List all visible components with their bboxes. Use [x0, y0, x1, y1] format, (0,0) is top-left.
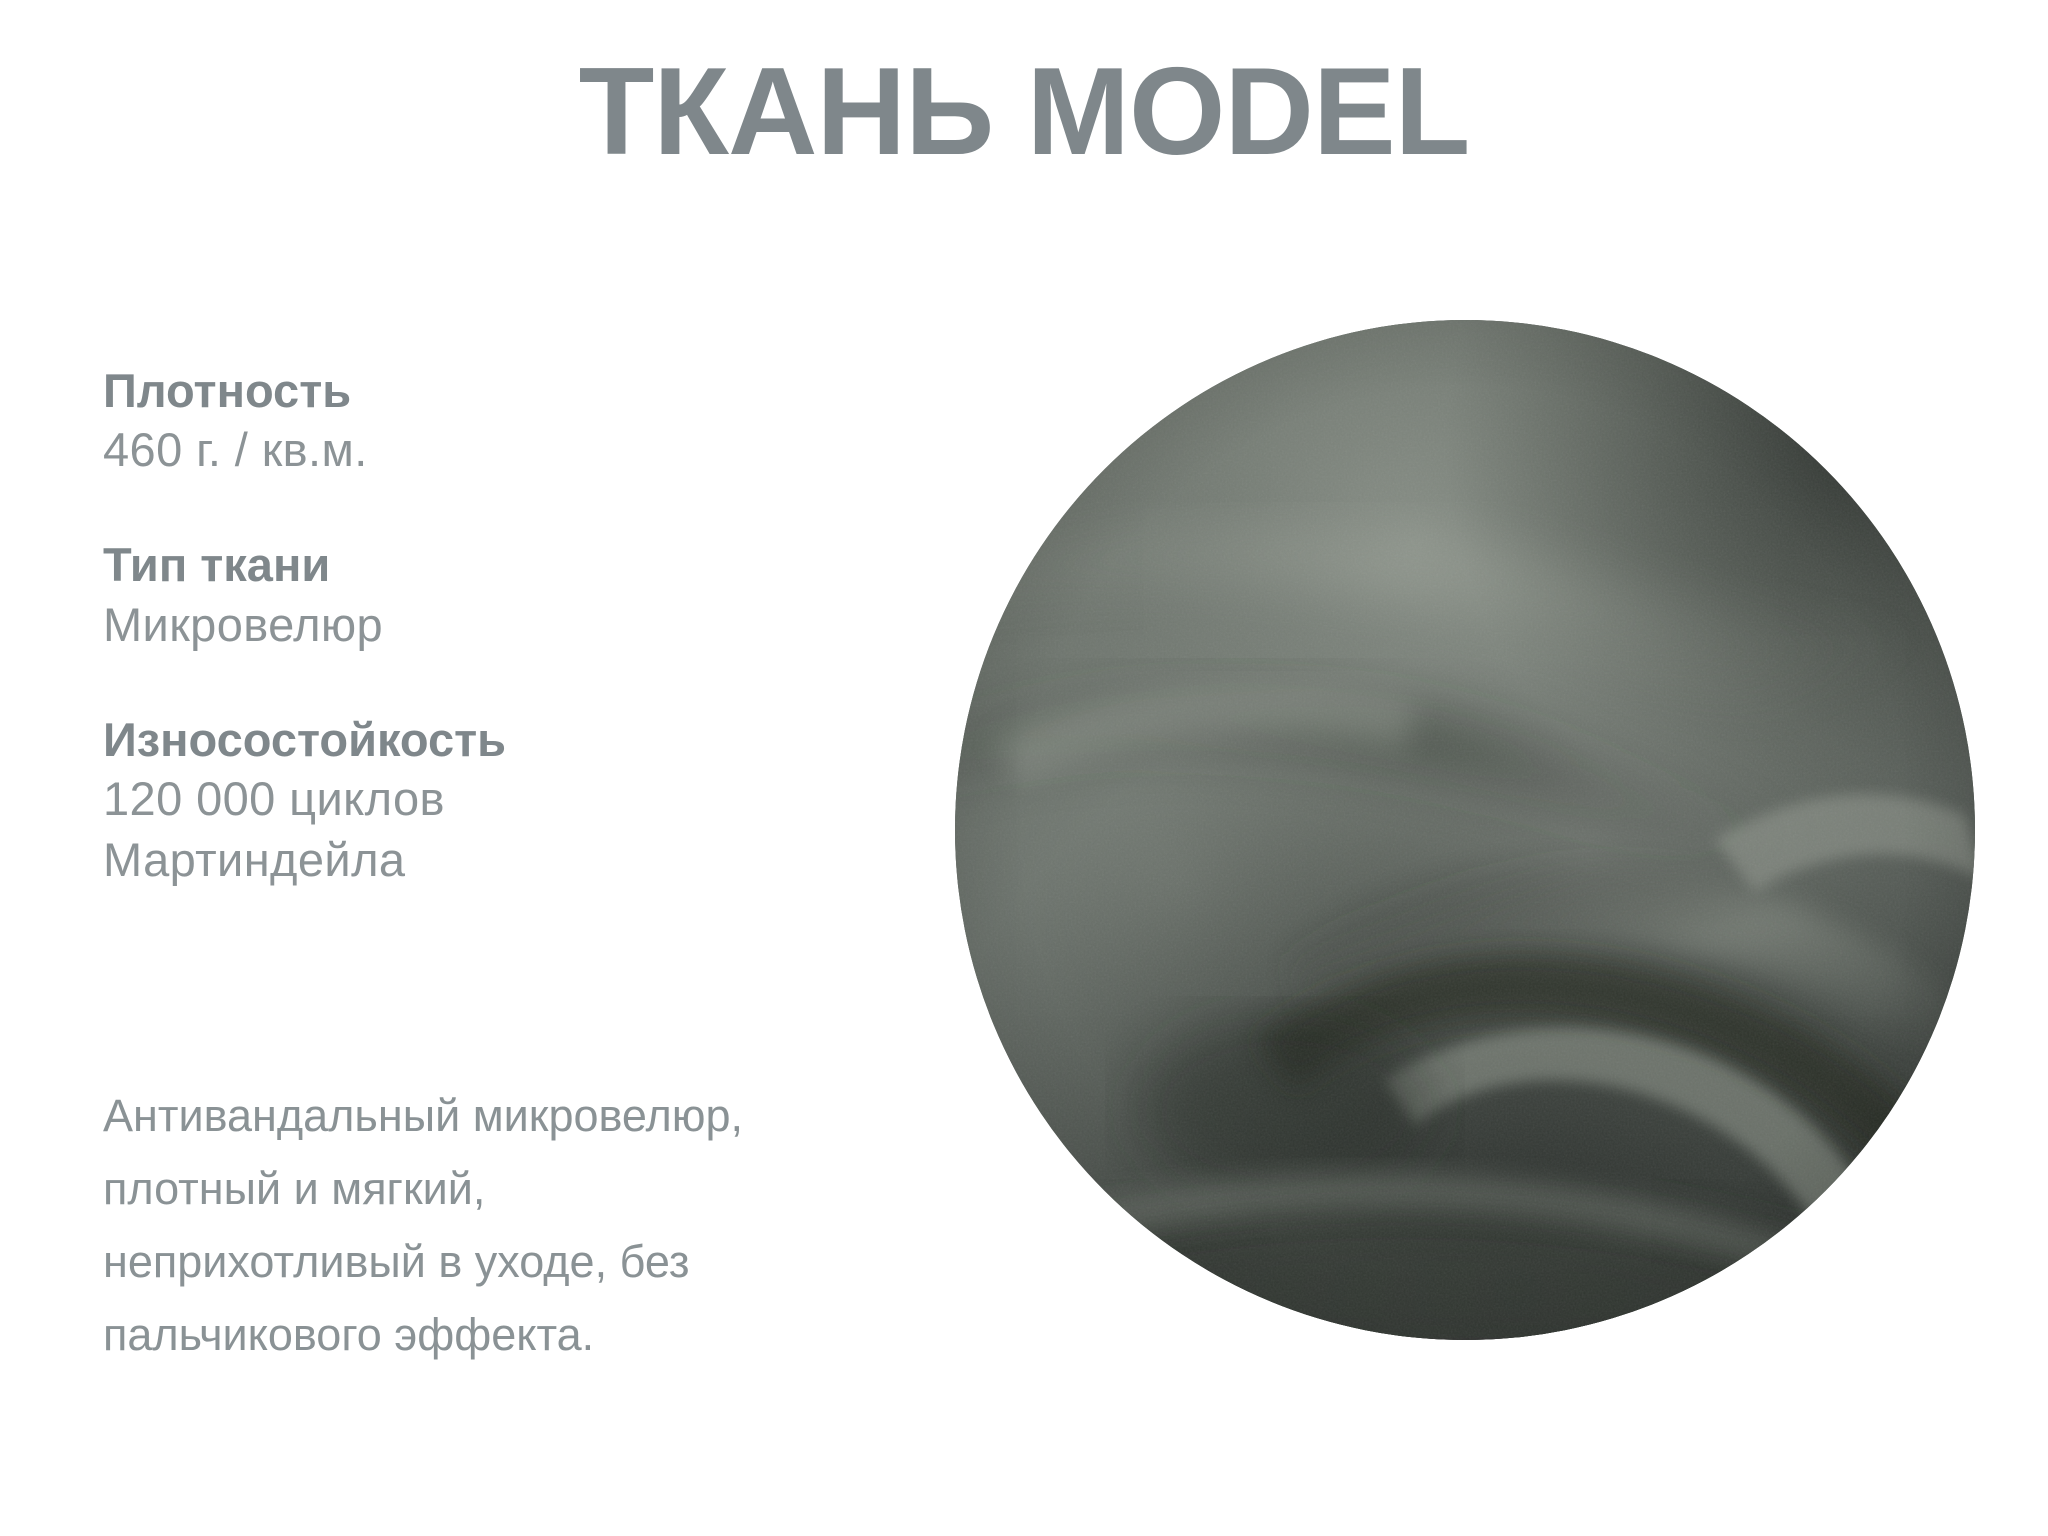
description-line-3: неприхотливый в уходе, без	[103, 1226, 1033, 1299]
spec-value-fabric-type: Микровелюр	[103, 594, 883, 655]
spec-label-density: Плотность	[103, 362, 883, 419]
spec-item-abrasion-resistance: Износостойкость 120 000 циклов Мартиндей…	[103, 711, 883, 891]
fabric-photo-circle	[955, 320, 1975, 1340]
spec-label-abrasion-resistance: Износостойкость	[103, 711, 883, 768]
spec-value-abrasion-cycles: 120 000 циклов	[103, 768, 883, 829]
spec-item-fabric-type: Тип ткани Микровелюр	[103, 536, 883, 654]
spec-value-abrasion-standard: Мартиндейла	[103, 829, 883, 890]
spec-label-fabric-type: Тип ткани	[103, 536, 883, 593]
page-title: ТКАНЬ MODEL	[0, 44, 2048, 180]
description-line-2: плотный и мягкий,	[103, 1153, 1033, 1226]
description-line-4: пальчикового эффекта.	[103, 1299, 1033, 1372]
description-paragraph: Антивандальный микровелюр, плотный и мяг…	[103, 1080, 1033, 1372]
specs-list: Плотность 460 г. / кв.м. Тип ткани Микро…	[103, 362, 883, 946]
slide-root: ТКАНЬ MODEL Плотность 460 г. / кв.м. Тип…	[0, 0, 2048, 1536]
spec-value-density: 460 г. / кв.м.	[103, 419, 883, 480]
fabric-photo-image	[955, 320, 1975, 1340]
description-line-1: Антивандальный микровелюр,	[103, 1080, 1033, 1153]
spec-item-density: Плотность 460 г. / кв.м.	[103, 362, 883, 480]
